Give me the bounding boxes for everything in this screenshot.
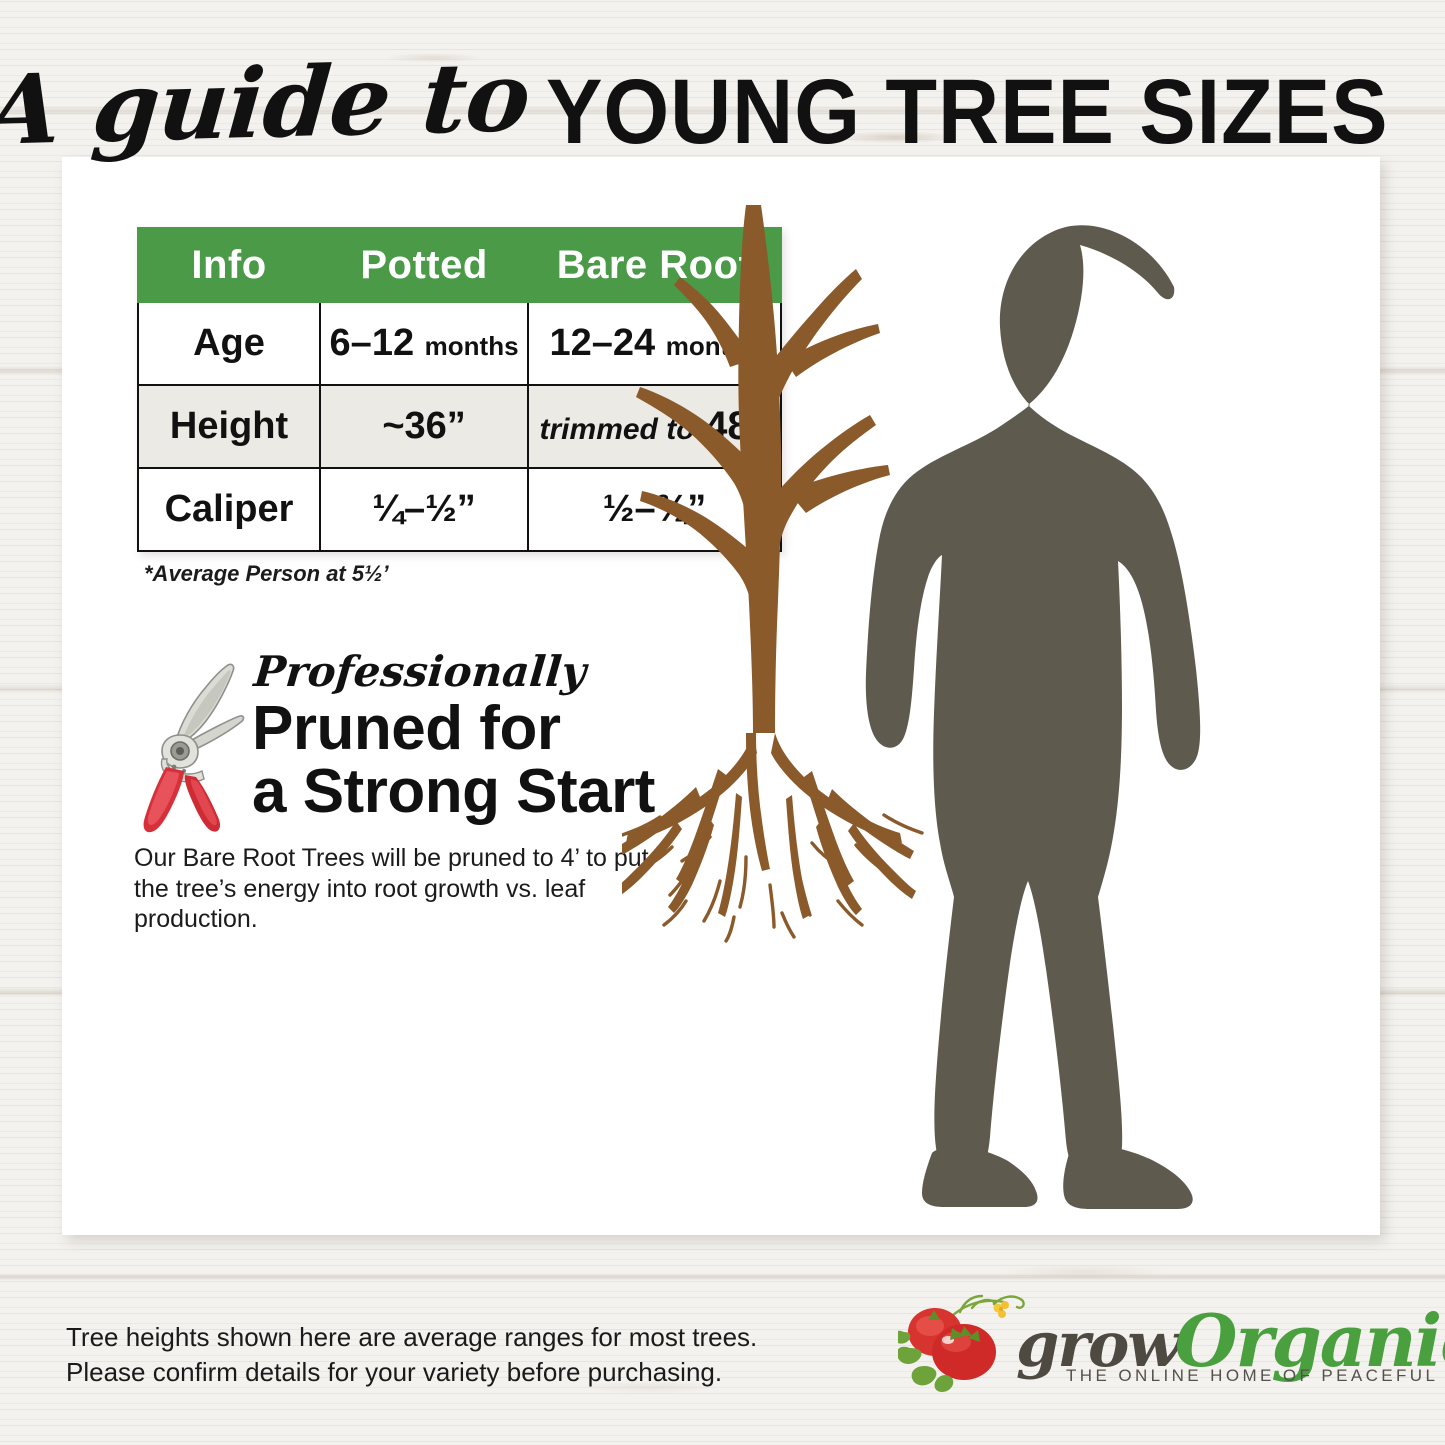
title-block-part: YOUNG TREE SIZES — [546, 69, 1388, 156]
title-script-part: A guide to — [0, 51, 533, 156]
cell-age-potted: 6–12 months — [320, 302, 528, 385]
footer-line1: Tree heights shown here are average rang… — [66, 1320, 757, 1355]
cell-height-potted: ~36” — [320, 385, 528, 468]
cell-caliper-potted: ¼–½” — [320, 468, 528, 551]
pruning-script-line: Professionally — [252, 647, 588, 696]
row-label-caliper: Caliper — [138, 468, 320, 551]
illustrations-svg — [622, 157, 1380, 1235]
row-label-height: Height — [138, 385, 320, 468]
footer-disclaimer: Tree heights shown here are average rang… — [66, 1320, 757, 1390]
pruning-body-line1: Our Bare Root Trees will be pruned to 4’… — [134, 843, 654, 874]
column-header-info: Info — [138, 228, 320, 302]
illustration-group — [622, 157, 1380, 1235]
row-label-age: Age — [138, 302, 320, 385]
cell-age-potted-value: 6–12 — [330, 322, 415, 364]
cell-age-potted-unit: months — [425, 331, 519, 361]
tomato-logo-icon — [898, 1292, 1028, 1397]
column-header-potted: Potted — [320, 228, 528, 302]
page-title: A guide to YOUNG TREE SIZES — [0, 48, 1445, 156]
pruning-shears-icon — [134, 655, 254, 835]
logo-tagline: THE ONLINE HOME OF PEACEFUL VALLEY — [1066, 1366, 1445, 1386]
infographic-poster: A guide to YOUNG TREE SIZES Info Potted … — [0, 0, 1445, 1445]
footer-line2: Please confirm details for your variety … — [66, 1355, 757, 1390]
pruning-body-text: Our Bare Root Trees will be pruned to 4’… — [134, 843, 654, 935]
content-card: Info Potted Bare Root Age 6–12 months 12… — [62, 157, 1380, 1235]
pruning-body-line2: the tree’s energy into root growth vs. l… — [134, 874, 654, 935]
person-silhouette — [866, 225, 1200, 1209]
brand-logo[interactable]: growOrganic.COM THE ONLINE HOME OF PEACE… — [898, 1292, 1388, 1404]
table-footnote: *Average Person at 5½’ — [144, 561, 389, 587]
